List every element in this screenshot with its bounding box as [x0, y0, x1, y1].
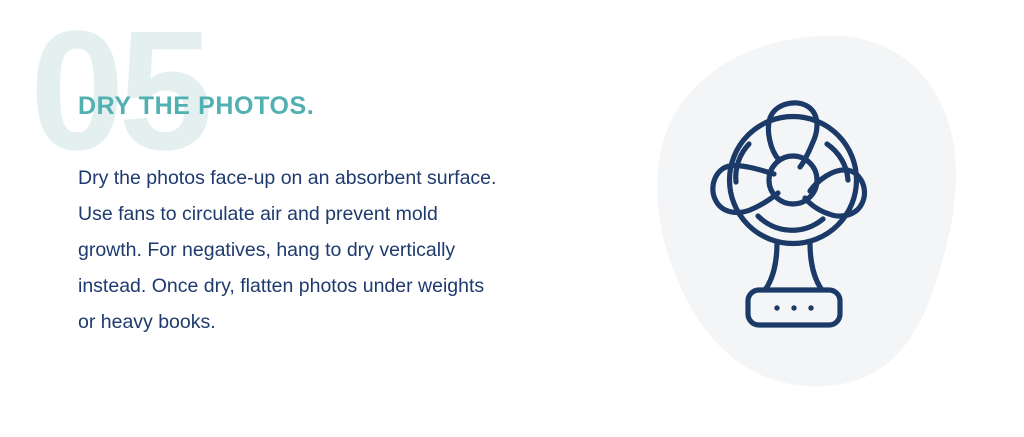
- background-blob: [657, 36, 956, 387]
- fan-illustration: [620, 0, 1024, 437]
- body-line: or heavy books.: [78, 304, 618, 340]
- base-dot: [791, 305, 796, 310]
- text-column: 05 DRY THE PHOTOS. Dry the photos face-u…: [0, 0, 640, 437]
- body-paragraph: Dry the photos face-up on an absorbent s…: [78, 160, 618, 340]
- slide-root: 05 DRY THE PHOTOS. Dry the photos face-u…: [0, 0, 1024, 437]
- body-line: Use fans to circulate air and prevent mo…: [78, 196, 618, 232]
- step-number-watermark: 05: [30, 6, 207, 176]
- body-line: instead. Once dry, flatten photos under …: [78, 268, 618, 304]
- base-dot: [808, 305, 813, 310]
- body-line: growth. For negatives, hang to dry verti…: [78, 232, 618, 268]
- illustration-column: [620, 0, 1024, 437]
- base-dot: [774, 305, 779, 310]
- body-line: Dry the photos face-up on an absorbent s…: [78, 160, 618, 196]
- page-title: DRY THE PHOTOS.: [78, 92, 314, 121]
